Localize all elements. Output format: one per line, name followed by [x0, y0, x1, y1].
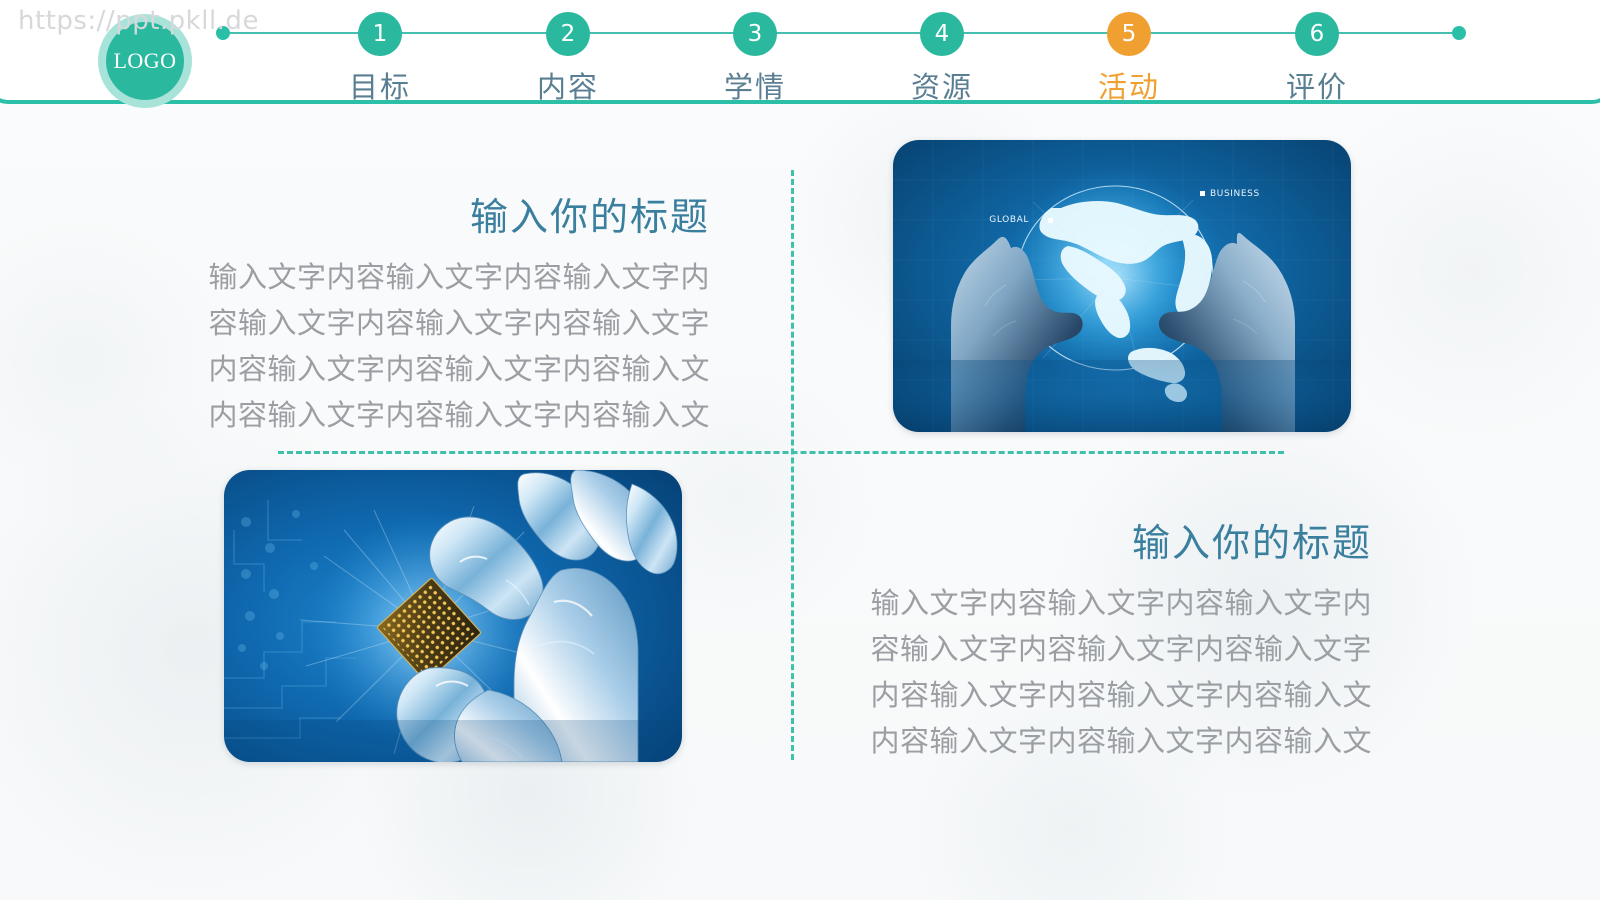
body-line: 容输入文字内容输入文字内容输入文字 [862, 627, 1372, 673]
label-business: BUSINESS [1210, 189, 1260, 199]
robot-hand-illustration [224, 470, 682, 762]
content-block-bottom-right: 输入你的标题 输入文字内容输入文字内容输入文字内 容输入文字内容输入文字内容输入… [862, 512, 1372, 765]
logo-label: LOGO [113, 48, 176, 74]
horizontal-dashed-divider [278, 451, 1284, 454]
block-title: 输入你的标题 [200, 186, 710, 241]
step-item-1[interactable]: 1 目标 [320, 12, 440, 106]
step-number-3: 3 [733, 12, 777, 56]
label-global: GLOBAL [989, 215, 1029, 225]
body-line: 输入文字内容输入文字内容输入文字内 [862, 581, 1372, 627]
step-label-3: 学情 [695, 64, 815, 106]
block-body: 输入文字内容输入文字内容输入文字内 容输入文字内容输入文字内容输入文字 内容输入… [200, 255, 710, 439]
timeline-end-dot [1452, 26, 1466, 40]
globe-illustration: GLOBAL BUSINESS SUCCESS [893, 140, 1351, 432]
body-line: 内容输入文字内容输入文字内容输入文 [862, 719, 1372, 765]
step-label-1: 目标 [320, 64, 440, 106]
block-body: 输入文字内容输入文字内容输入文字内 容输入文字内容输入文字内容输入文字 内容输入… [862, 581, 1372, 765]
watermark-url: https://ppt.pkll.de [18, 6, 259, 36]
image-robot-hand-chip [224, 470, 682, 762]
step-label-5: 活动 [1069, 64, 1189, 106]
body-line: 内容输入文字内容输入文字内容输入文 [200, 347, 710, 393]
step-item-6[interactable]: 6 评价 [1257, 12, 1377, 106]
image-globe-in-hands: GLOBAL BUSINESS SUCCESS [893, 140, 1351, 432]
step-number-5: 5 [1107, 12, 1151, 56]
step-number-2: 2 [546, 12, 590, 56]
block-title: 输入你的标题 [862, 512, 1372, 567]
step-number-1: 1 [358, 12, 402, 56]
content-block-top-left: 输入你的标题 输入文字内容输入文字内容输入文字内 容输入文字内容输入文字内容输入… [200, 186, 710, 439]
step-number-4: 4 [920, 12, 964, 56]
vertical-dashed-divider [791, 170, 794, 760]
step-label-4: 资源 [882, 64, 1002, 106]
body-line: 输入文字内容输入文字内容输入文字内 [200, 255, 710, 301]
step-label-2: 内容 [508, 64, 628, 106]
body-line: 内容输入文字内容输入文字内容输入文 [862, 673, 1372, 719]
step-item-4[interactable]: 4 资源 [882, 12, 1002, 106]
step-item-2[interactable]: 2 内容 [508, 12, 628, 106]
body-line: 内容输入文字内容输入文字内容输入文 [200, 393, 710, 439]
step-item-3[interactable]: 3 学情 [695, 12, 815, 106]
slide-background [0, 0, 1600, 900]
step-label-6: 评价 [1257, 64, 1377, 106]
step-item-5[interactable]: 5 活动 [1069, 12, 1189, 106]
step-number-6: 6 [1295, 12, 1339, 56]
body-line: 容输入文字内容输入文字内容输入文字 [200, 301, 710, 347]
